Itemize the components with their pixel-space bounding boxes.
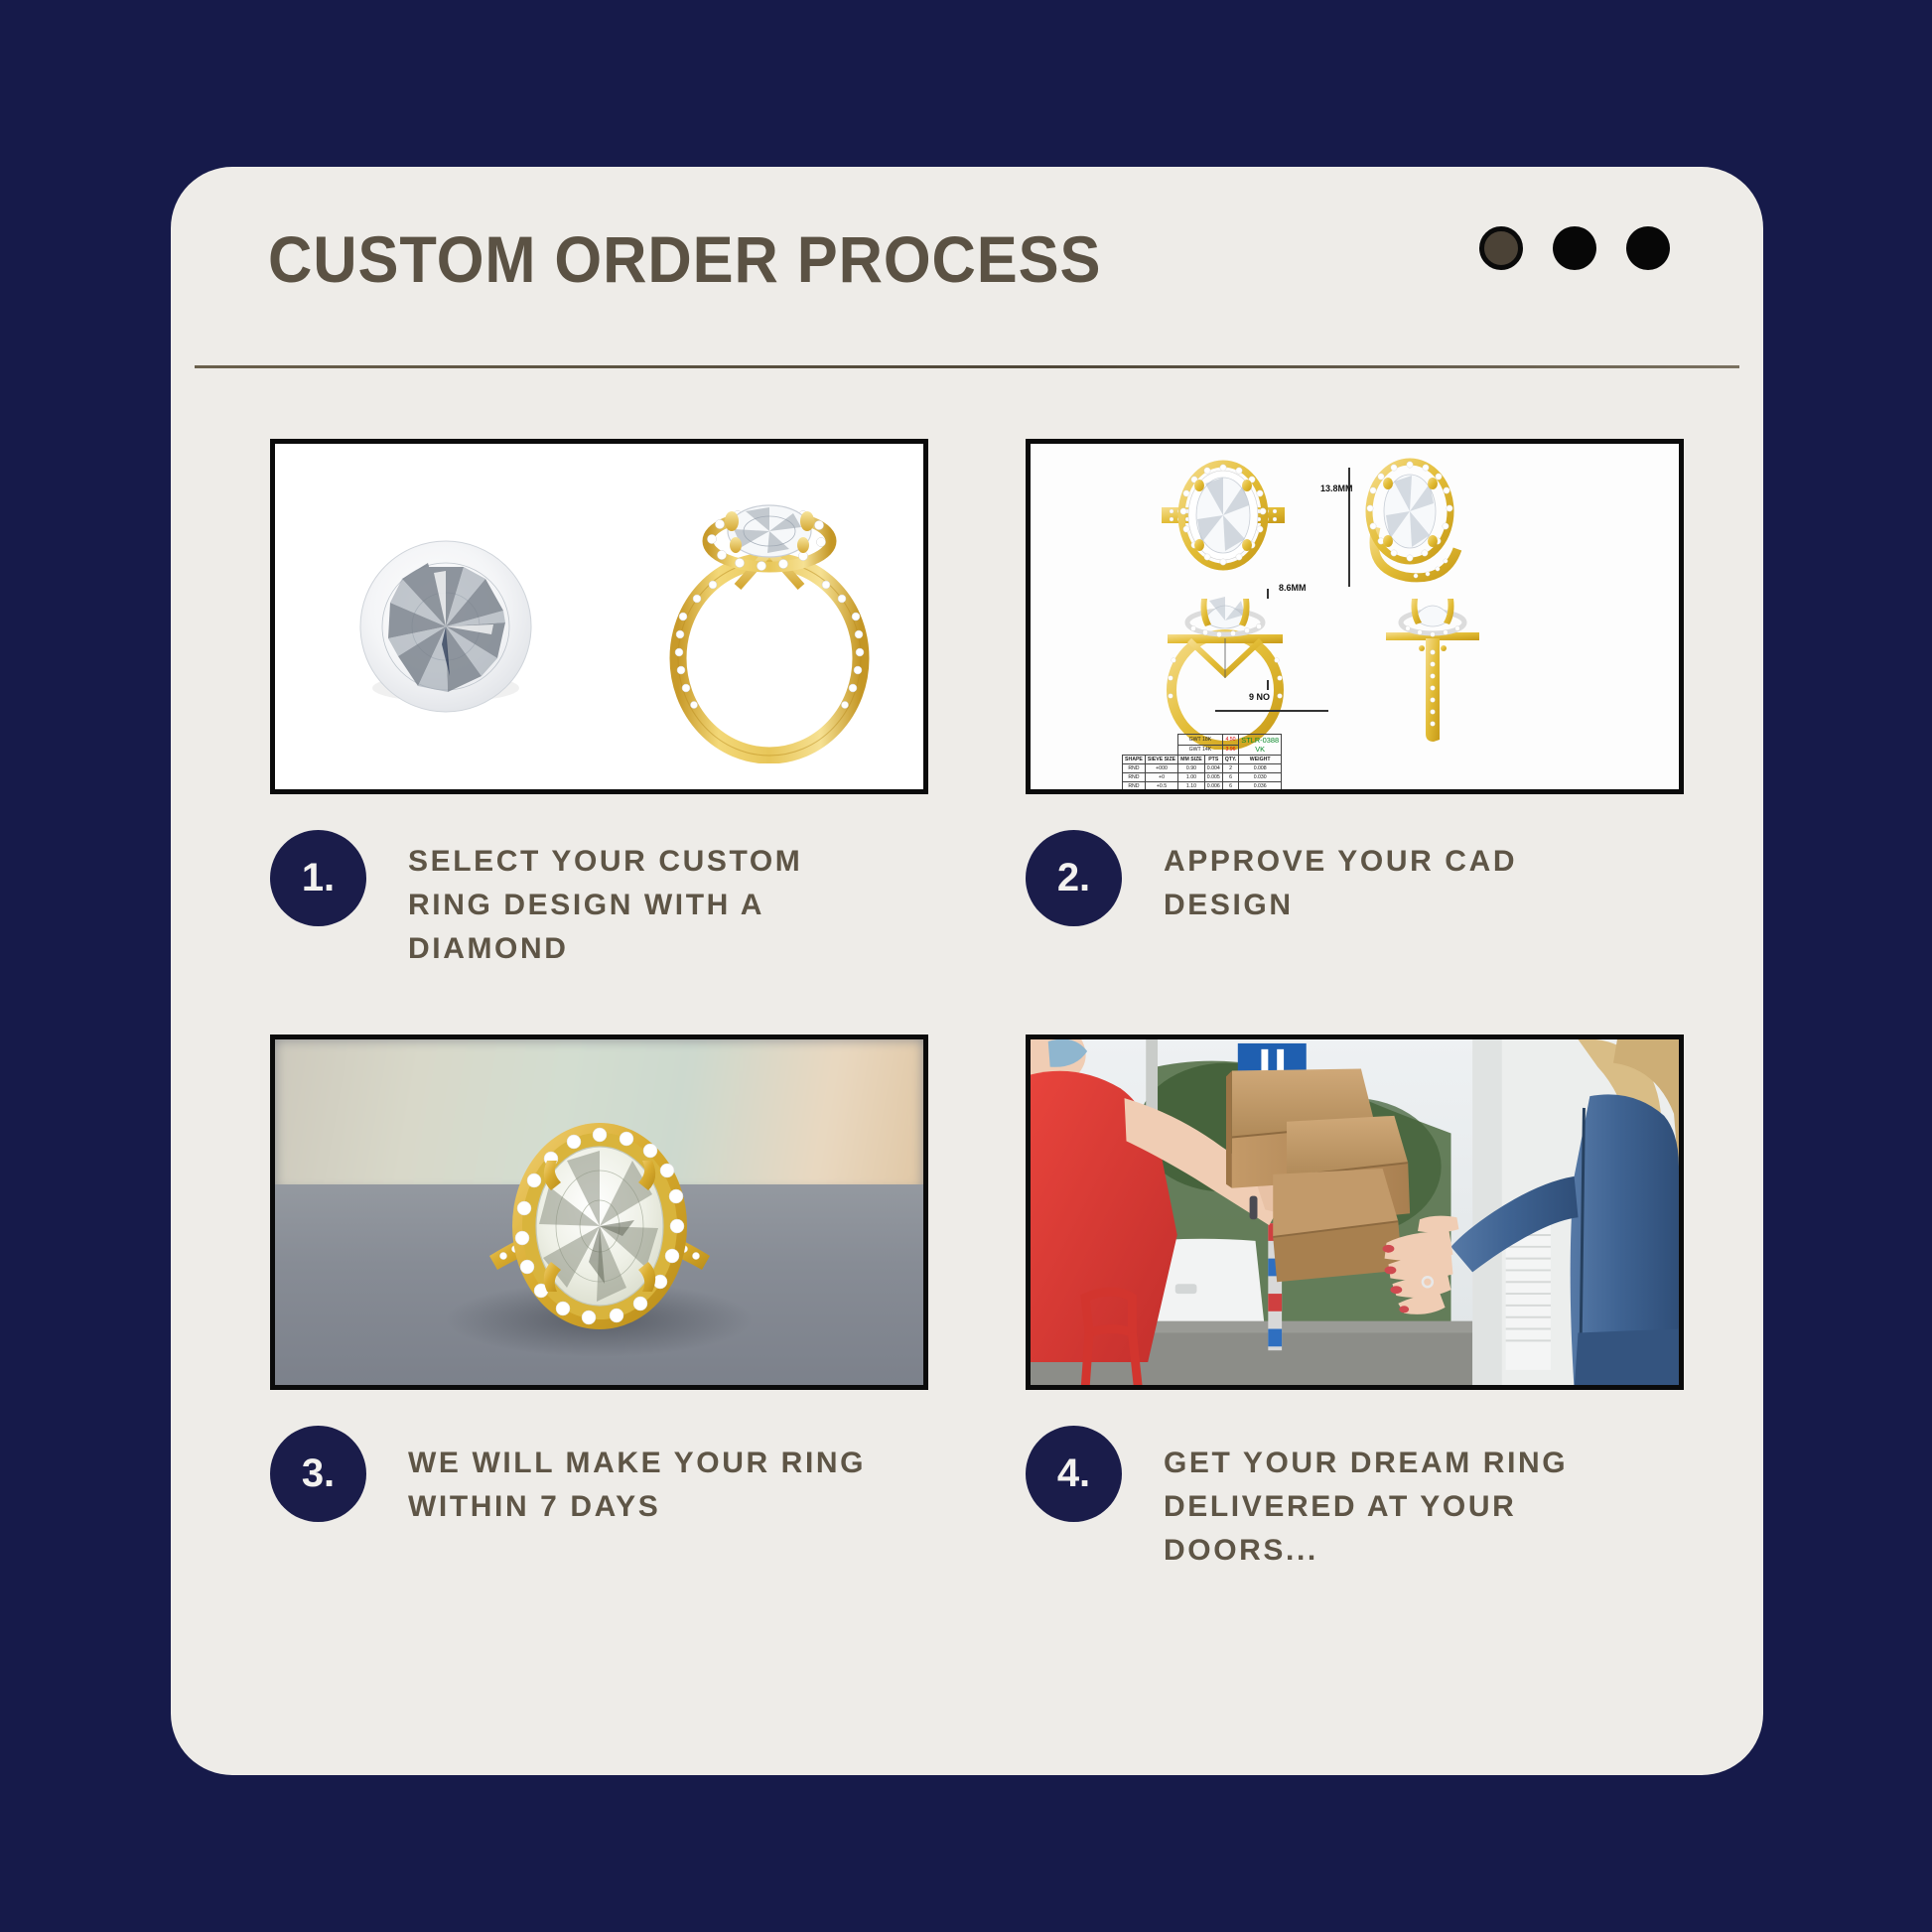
step-4-image-frame	[1026, 1035, 1684, 1390]
poster-canvas: CUSTOM ORDER PROCESS	[0, 0, 1932, 1932]
step-4-caption-row: 4. GET YOUR DREAM RING DELIVERED AT YOUR…	[1026, 1426, 1684, 1573]
step-3-caption-row: 3. WE WILL MAKE YOUR RING WITHIN 7 DAYS	[270, 1426, 928, 1529]
cad-gwt-14k-value: 3.96	[1222, 745, 1239, 756]
cad-table-row: RND +0.5 1.10 0.006 6 0.036	[1123, 782, 1282, 791]
step-3-caption: WE WILL MAKE YOUR RING WITHIN 7 DAYS	[408, 1426, 885, 1529]
cad-cell: RND	[1123, 773, 1146, 782]
gold-halo-ring-icon	[650, 487, 889, 763]
cad-cell: 6	[1222, 773, 1239, 782]
cad-dimension-8-6mm: 8.6MM	[1279, 583, 1307, 593]
process-card: CUSTOM ORDER PROCESS	[171, 167, 1763, 1775]
finished-ring-photo-icon	[482, 1117, 718, 1341]
cad-cell: RND	[1123, 764, 1146, 773]
cad-dim-tick-bottom	[1267, 680, 1269, 690]
step-2-image-frame: 13.8MM 8.6MM 9 NO GWT 18K	[1026, 439, 1684, 794]
page-title: CUSTOM ORDER PROCESS	[268, 221, 1101, 297]
step-4-caption: GET YOUR DREAM RING DELIVERED AT YOUR DO…	[1164, 1426, 1640, 1573]
cad-style-code: STLR-0388	[1241, 736, 1279, 745]
cad-perspective-view-icon	[1346, 458, 1475, 587]
cad-cell: 0.90	[1178, 764, 1205, 773]
cad-cell: 0.030	[1239, 773, 1282, 782]
step-2-badge: 2.	[1026, 830, 1122, 926]
cad-initials: VK	[1255, 745, 1265, 754]
window-controls[interactable]	[1479, 226, 1670, 270]
cad-table-header-row: SHAPE SIEVE SIZE MM SIZE PTS QTY. WEIGHT	[1123, 756, 1282, 764]
step-card-1: 1. SELECT YOUR CUSTOM RING DESIGN WITH A…	[270, 439, 928, 971]
card-header: CUSTOM ORDER PROCESS	[171, 167, 1763, 395]
cad-dim-line-horizontal	[1215, 710, 1328, 712]
step-2-caption-row: 2. APPROVE YOUR CAD DESIGN	[1026, 830, 1684, 927]
step-card-2: 13.8MM 8.6MM 9 NO GWT 18K	[1026, 439, 1684, 971]
cad-gwt-14k-label: GWT 14K	[1178, 745, 1223, 756]
cad-sheet: 13.8MM 8.6MM 9 NO GWT 18K	[1031, 444, 1679, 789]
cad-dimension-9-no: 9 NO	[1249, 692, 1270, 702]
step-3-badge: 3.	[270, 1426, 366, 1522]
step-1-caption: SELECT YOUR CUSTOM RING DESIGN WITH A DI…	[408, 830, 885, 971]
cad-col-pts: PTS	[1204, 756, 1222, 764]
loose-diamond-icon	[346, 527, 545, 726]
cad-side-view-icon	[1378, 585, 1487, 750]
cad-cell: 2	[1222, 764, 1239, 773]
cad-col-weight: WEIGHT	[1239, 756, 1282, 764]
cad-cell: 1.00	[1178, 773, 1205, 782]
cad-cell: 6	[1222, 782, 1239, 791]
step-2-caption: APPROVE YOUR CAD DESIGN	[1164, 830, 1640, 927]
cad-cell: 0.005	[1204, 773, 1222, 782]
cad-cell: 0.008	[1239, 764, 1282, 773]
header-divider	[195, 365, 1739, 368]
cad-table-row: RND +000 0.90 0.004 2 0.008	[1123, 764, 1282, 773]
cad-dimension-13-8mm: 13.8MM	[1320, 483, 1353, 493]
cad-dim-tick-top	[1267, 589, 1269, 599]
cad-top-view-icon	[1160, 460, 1287, 575]
cad-col-mm-size: MM SIZE	[1178, 756, 1205, 764]
cad-table-gwt-row: GWT 18K 4.50 STLR-0388 VK	[1123, 735, 1282, 746]
cad-table-row: RND +0 1.00 0.005 6 0.030	[1123, 773, 1282, 782]
step-1-badge: 1.	[270, 830, 366, 926]
steps-grid: 1. SELECT YOUR CUSTOM RING DESIGN WITH A…	[270, 439, 1684, 1574]
cad-cell: +0	[1145, 773, 1177, 782]
cad-col-qty: QTY.	[1222, 756, 1239, 764]
steps-row-top: 1. SELECT YOUR CUSTOM RING DESIGN WITH A…	[270, 439, 1684, 971]
window-dot-black-icon[interactable]	[1553, 226, 1596, 270]
step-3-image-frame	[270, 1035, 928, 1390]
step-1-image-frame	[270, 439, 928, 794]
window-dot-black-icon[interactable]	[1626, 226, 1670, 270]
cad-col-shape: SHAPE	[1123, 756, 1146, 764]
cad-cell: 0.006	[1204, 782, 1222, 791]
cad-col-sieve-size: SIEVE SIZE	[1145, 756, 1177, 764]
window-dot-brown-icon[interactable]	[1479, 226, 1523, 270]
cad-gwt-18k-label: GWT 18K	[1178, 735, 1223, 746]
step-card-4: 4. GET YOUR DREAM RING DELIVERED AT YOUR…	[1026, 1035, 1684, 1573]
cad-cell: 0.004	[1204, 764, 1222, 773]
cad-cell: 1.10	[1178, 782, 1205, 791]
cad-cell: +0.5	[1145, 782, 1177, 791]
cad-cell: +000	[1145, 764, 1177, 773]
steps-row-bottom: 3. WE WILL MAKE YOUR RING WITHIN 7 DAYS	[270, 1035, 1684, 1573]
cad-gwt-18k-value: 4.50	[1222, 735, 1239, 746]
cad-cell: RND	[1123, 782, 1146, 791]
step-1-caption-row: 1. SELECT YOUR CUSTOM RING DESIGN WITH A…	[270, 830, 928, 971]
step-card-3: 3. WE WILL MAKE YOUR RING WITHIN 7 DAYS	[270, 1035, 928, 1573]
cad-spec-table: GWT 18K 4.50 STLR-0388 VK GWT 14K	[1122, 734, 1282, 791]
cad-front-view-icon	[1152, 583, 1299, 750]
cad-cell: 0.036	[1239, 782, 1282, 791]
step-4-badge: 4.	[1026, 1426, 1122, 1522]
package-delivery-photo-icon	[1031, 1039, 1679, 1390]
